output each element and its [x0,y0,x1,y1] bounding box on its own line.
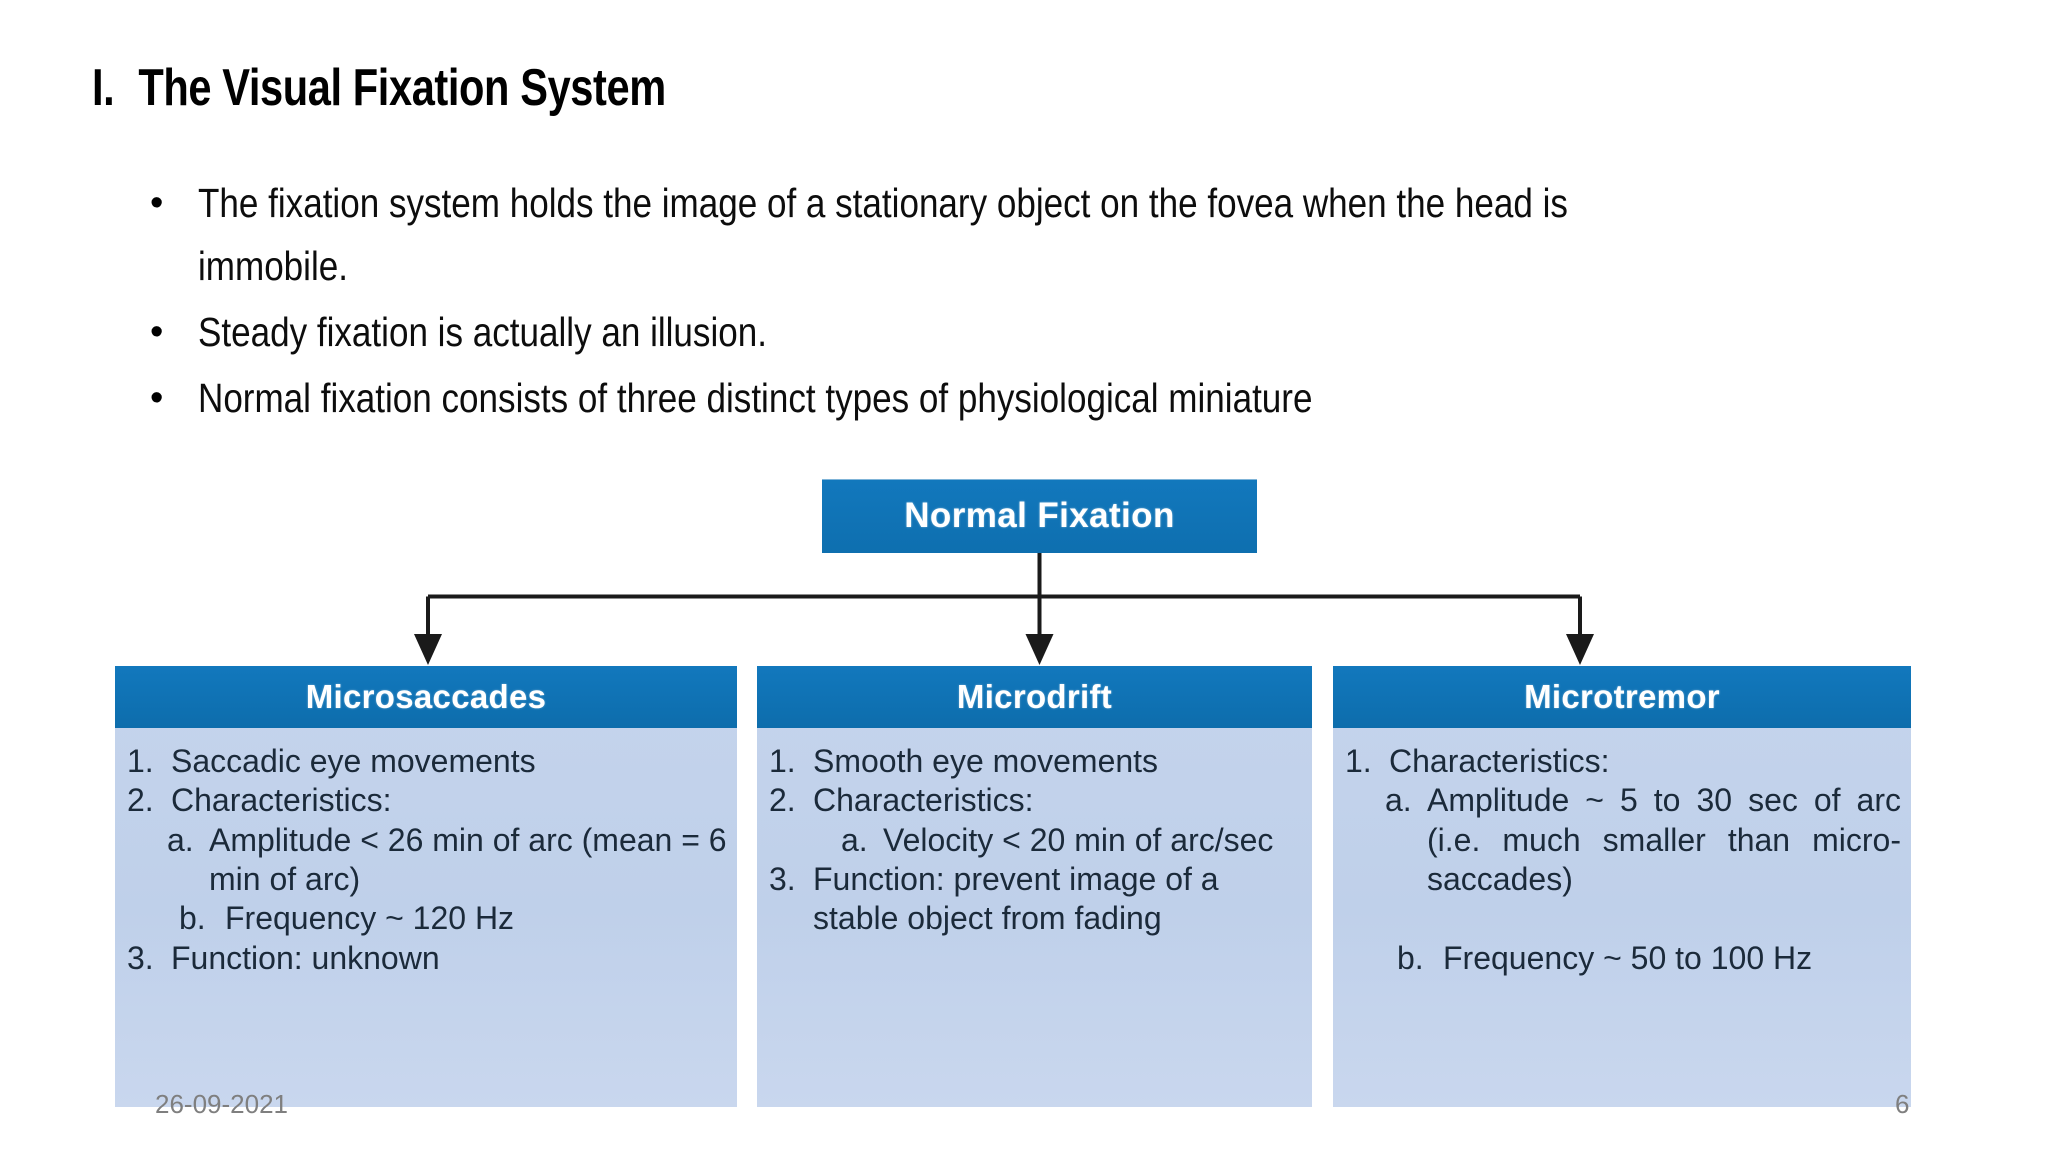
list-item: 1. Saccadic eye movements [127,742,727,781]
list-marker: 1. [769,742,813,781]
list-text: Characteristics: [171,781,727,820]
list-item: 3. Function: unknown [127,939,727,978]
list-marker: b. [1397,939,1443,978]
list-item: 3. Function: prevent image of a stable o… [769,860,1302,939]
node-microtremor-label: Microtremor [1524,678,1720,716]
list-text: Characteristics: [813,781,1302,820]
list-text: Frequency ~ 50 to 100 Hz [1443,939,1901,978]
node-microsaccades-body: 1. Saccadic eye movements 2. Characteris… [115,728,737,978]
list-text: Velocity < 20 min of arc/sec [883,821,1302,860]
list-item: 1. Smooth eye movements [769,742,1302,781]
node-microtremor[interactable]: Microtremor 1. Characteristics: a. Ampli… [1333,666,1911,1107]
list-marker: 3. [769,860,813,899]
list-text: Characteristics: [1389,742,1901,781]
list-text: Amplitude < 26 min of arc (mean = 6 min … [209,821,727,900]
list-text: Function: unknown [171,939,727,978]
node-microtremor-body: 1. Characteristics: a. Amplitude ~ 5 to … [1333,728,1911,978]
list-marker: 2. [769,781,813,820]
node-microtremor-header: Microtremor [1333,666,1911,728]
node-microdrift-header: Microdrift [757,666,1312,728]
node-microdrift[interactable]: Microdrift 1. Smooth eye movements 2. Ch… [757,666,1312,1107]
list-text: Frequency ~ 120 Hz [225,899,727,938]
list-marker: b. [179,899,225,938]
list-item: a. Amplitude ~ 5 to 30 sec of arc (i.e. … [1345,781,1901,938]
list-marker: 3. [127,939,171,978]
node-normal-fixation[interactable]: Normal Fixation [822,479,1257,553]
node-microdrift-label: Microdrift [957,678,1112,716]
fixation-hierarchy-diagram: Normal Fixation Microsaccades 1. Saccadi… [0,0,2048,1152]
node-microdrift-body: 1. Smooth eye movements 2. Characteristi… [757,728,1312,939]
list-item: 2. Characteristics: [769,781,1302,820]
list-marker: a. [167,821,209,860]
list-text: Function: prevent image of a stable obje… [813,860,1302,939]
footer-page-number: 6 [1895,1089,1909,1120]
list-item: b. Frequency ~ 50 to 100 Hz [1345,939,1901,978]
list-text: Saccadic eye movements [171,742,727,781]
list-item: b. Frequency ~ 120 Hz [127,899,727,938]
list-marker: a. [841,821,883,860]
node-microsaccades-header: Microsaccades [115,666,737,728]
list-item: a. Amplitude < 26 min of arc (mean = 6 m… [127,821,727,900]
list-text: Amplitude ~ 5 to 30 sec of arc (i.e. muc… [1427,781,1901,938]
list-marker: 2. [127,781,171,820]
node-normal-fixation-label: Normal Fixation [904,496,1174,536]
list-marker: 1. [127,742,171,781]
list-text: Smooth eye movements [813,742,1302,781]
node-microsaccades-label: Microsaccades [306,678,547,716]
list-item: a. Velocity < 20 min of arc/sec [769,821,1302,860]
list-item: 2. Characteristics: [127,781,727,820]
node-microsaccades[interactable]: Microsaccades 1. Saccadic eye movements … [115,666,737,1107]
list-marker: a. [1385,781,1427,820]
list-item: 1. Characteristics: [1345,742,1901,781]
footer-date: 26-09-2021 [155,1089,288,1120]
list-marker: 1. [1345,742,1389,781]
